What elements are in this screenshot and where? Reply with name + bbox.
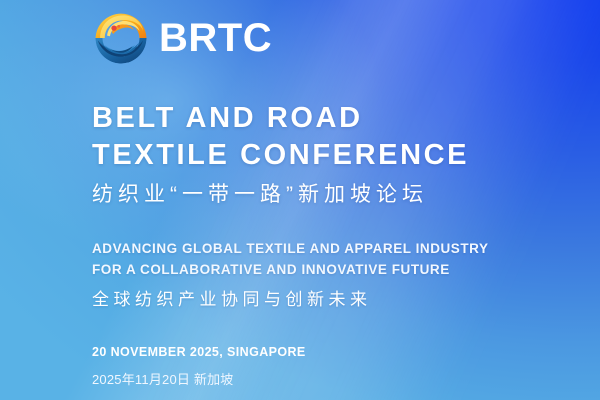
headline-line-1: BELT AND ROAD [92,100,469,137]
brand-lockup: BRTC [92,9,272,67]
event-date-location: 20 NOVEMBER 2025, SINGAPORE [92,344,306,361]
brand-name: BRTC [159,18,272,58]
tagline-line-1: ADVANCING GLOBAL TEXTILE AND APPAREL IND… [92,238,489,259]
headline-line-2: TEXTILE CONFERENCE [92,137,469,174]
tagline: ADVANCING GLOBAL TEXTILE AND APPAREL IND… [92,238,489,280]
poster-content: BRTC BELT AND ROAD TEXTILE CONFERENCE 纺织… [0,0,600,400]
tagline-chinese: 全球纺织产业协同与创新未来 [92,288,372,312]
event-date-location-chinese: 2025年11月20日 新加坡 [92,371,234,389]
brtc-logo-icon [92,9,150,67]
conference-poster: BRTC BELT AND ROAD TEXTILE CONFERENCE 纺织… [0,0,600,400]
tagline-line-2: FOR A COLLABORATIVE AND INNOVATIVE FUTUR… [92,259,489,280]
page-title-chinese: 纺织业“一带一路”新加坡论坛 [92,182,428,208]
page-title: BELT AND ROAD TEXTILE CONFERENCE [92,100,469,174]
